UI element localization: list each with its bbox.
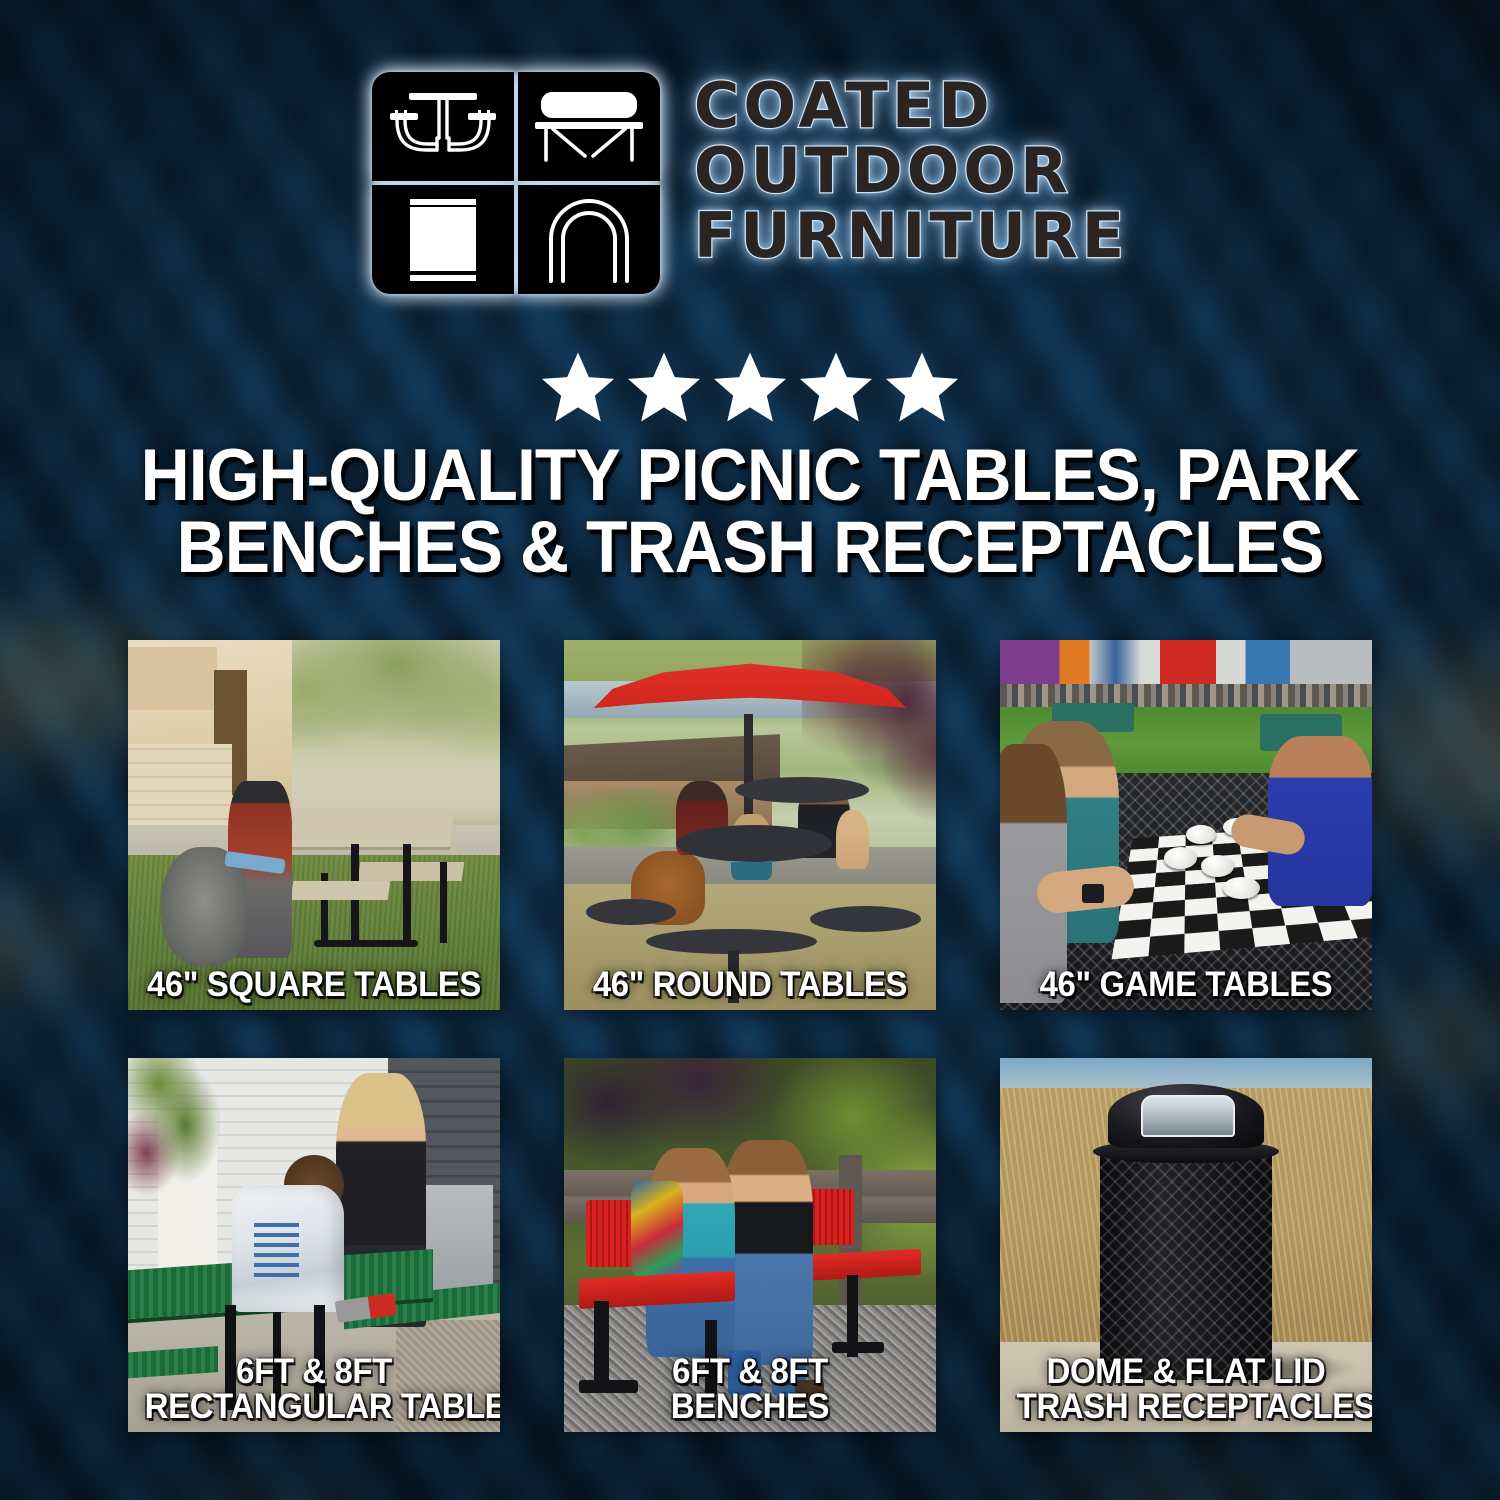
headline-line-2: BENCHES & TRASH RECEPTACLES [108, 512, 1391, 584]
star-icon-2 [628, 352, 700, 422]
product-photo-square-tables [128, 640, 500, 1010]
brand-wordmark: COATED OUTDOOR FURNITURE [694, 72, 1128, 268]
star-icon-4 [800, 352, 872, 422]
caption-line: 46" SQUARE TABLES [145, 968, 483, 1002]
trash-receptacle-icon [372, 185, 514, 294]
picnic-table-icon [372, 72, 514, 181]
product-caption-game-tables: 46" GAME TABLES [1017, 968, 1355, 1002]
product-card-benches[interactable]: 6FT & 8FT BENCHES [564, 1058, 936, 1432]
product-caption-round-tables: 46" ROUND TABLES [581, 968, 919, 1002]
logo-icon-grid [372, 72, 660, 294]
product-grid: 46" SQUARE TABLES [128, 640, 1372, 1432]
product-card-rectangular-tables[interactable]: 6FT & 8FT RECTANGULAR TABLES [128, 1058, 500, 1432]
caption-line: RECTANGULAR TABLES [145, 1390, 483, 1424]
caption-line: DOME & FLAT LID [1017, 1355, 1355, 1389]
caption-line: 6FT & 8FT [145, 1355, 483, 1389]
product-banner: COATED OUTDOOR FURNITURE HIGH-QUALITY PI… [0, 0, 1500, 1500]
product-card-trash-receptacles[interactable]: DOME & FLAT LID TRASH RECEPTACLES [1000, 1058, 1372, 1432]
product-caption-rectangular-tables: 6FT & 8FT RECTANGULAR TABLES [145, 1355, 483, 1424]
caption-line: TRASH RECEPTACLES [1017, 1390, 1355, 1424]
brand-line-1: COATED [694, 74, 1128, 137]
caption-line: 46" GAME TABLES [1017, 968, 1355, 1002]
brand-line-2: OUTDOOR [694, 139, 1128, 202]
caption-line: BENCHES [581, 1390, 919, 1424]
product-caption-benches: 6FT & 8FT BENCHES [581, 1355, 919, 1424]
brand-line-3: FURNITURE [694, 204, 1128, 267]
caption-line: 6FT & 8FT [581, 1355, 919, 1389]
product-card-game-tables[interactable]: 46" GAME TABLES [1000, 640, 1372, 1010]
product-photo-game-tables [1000, 640, 1372, 1010]
park-bench-icon [518, 72, 660, 181]
caption-line: 46" ROUND TABLES [581, 968, 919, 1002]
arch-bike-rack-icon [518, 185, 660, 294]
star-icon-5 [886, 352, 958, 422]
star-rating [0, 352, 1500, 422]
headline-line-1: HIGH-QUALITY PICNIC TABLES, PARK [108, 440, 1391, 512]
star-icon-1 [542, 352, 614, 422]
product-caption-trash-receptacles: DOME & FLAT LID TRASH RECEPTACLES [1017, 1355, 1355, 1424]
product-card-round-tables[interactable]: 46" ROUND TABLES [564, 640, 936, 1010]
star-icon-3 [714, 352, 786, 422]
product-caption-square-tables: 46" SQUARE TABLES [145, 968, 483, 1002]
brand-logo: COATED OUTDOOR FURNITURE [0, 72, 1500, 294]
product-photo-round-tables [564, 640, 936, 1010]
product-card-square-tables[interactable]: 46" SQUARE TABLES [128, 640, 500, 1010]
page-title: HIGH-QUALITY PICNIC TABLES, PARK BENCHES… [108, 440, 1391, 585]
